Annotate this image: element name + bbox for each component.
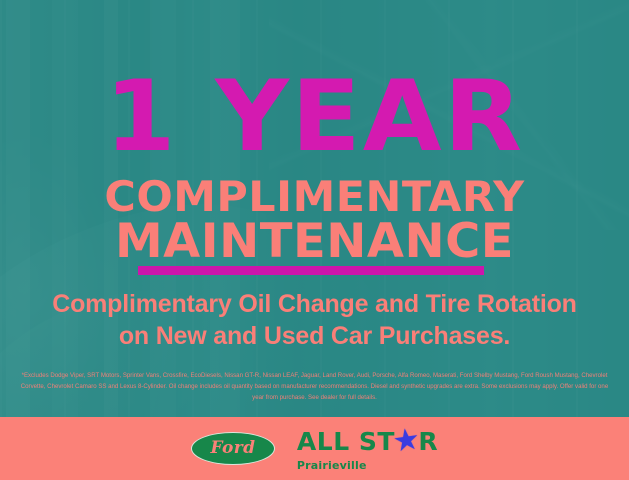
dealer-location-label: Prairieville (297, 460, 438, 471)
offer-description-line-1: Complimentary Oil Change and Tire Rotati… (0, 288, 629, 321)
offer-description-line-2: on New and Used Car Purchases. (0, 320, 629, 353)
star-icon: ★ (391, 424, 422, 458)
all-star-dealer-logo[interactable]: ALL ST ★ R Prairieville (297, 427, 438, 471)
ford-logo-text: Ford (210, 438, 255, 458)
promotional-ad-banner: 1 YEAR COMPLIMENTARY MAINTENANCE Complim… (0, 0, 629, 480)
all-star-wordmark: ALL ST ★ R (297, 427, 438, 457)
ad-content: 1 YEAR COMPLIMENTARY MAINTENANCE Complim… (0, 0, 629, 480)
headline-maintenance: MAINTENANCE (0, 214, 629, 269)
magenta-divider-bar (138, 266, 484, 275)
disclaimer-fine-print: *Excludes Dodge Viper, SRT Motors, Sprin… (18, 371, 611, 404)
all-star-text-part1: ALL ST (297, 429, 395, 454)
footer-logo-bar: Ford ALL ST ★ R Prairieville (0, 417, 629, 480)
ford-oval-logo[interactable]: Ford (191, 432, 275, 465)
headline-year: 1 YEAR (0, 72, 629, 162)
